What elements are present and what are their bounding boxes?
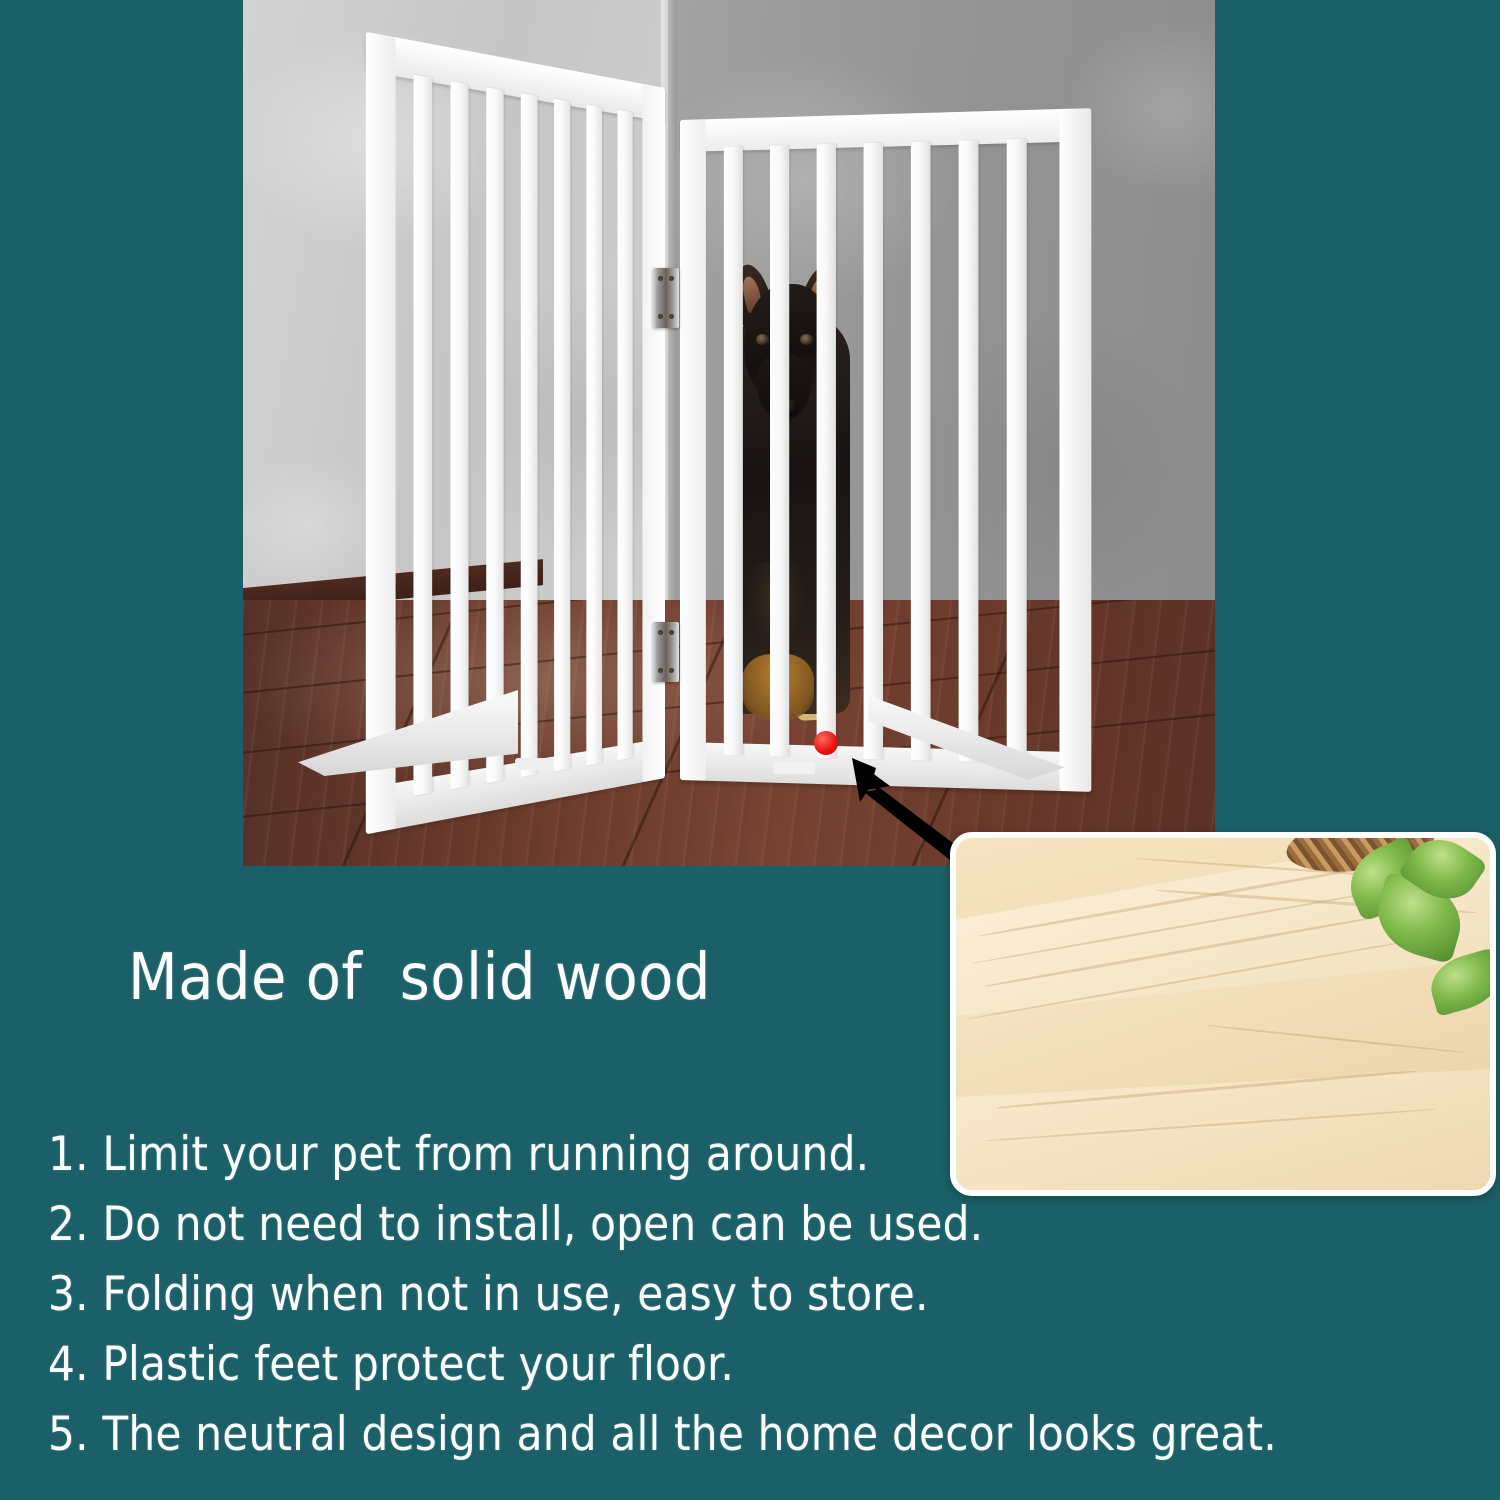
hinge-screw xyxy=(658,276,663,281)
gate-slat xyxy=(1007,139,1027,763)
feature-list: 1. Limit your pet from running around. 2… xyxy=(48,1120,1468,1470)
plastic-foot-pad xyxy=(515,758,553,770)
gate-slat xyxy=(959,140,979,762)
support-foot-left xyxy=(298,690,518,776)
hinge-screw xyxy=(669,668,674,673)
gate-hinge-bottom xyxy=(653,622,679,682)
hinge-screw xyxy=(658,314,663,319)
gate-slat xyxy=(413,75,432,796)
feature-item-3: 3. Folding when not in use, easy to stor… xyxy=(48,1260,1468,1330)
gate-slat xyxy=(911,141,931,760)
hinge-screw xyxy=(669,276,674,281)
headline: Made of solid wood xyxy=(128,942,711,1014)
hinge-screw xyxy=(669,314,674,319)
gate-slat xyxy=(554,99,570,771)
hinge-screw xyxy=(669,630,674,635)
hinge-screw xyxy=(658,668,663,673)
gate-slat xyxy=(450,81,468,789)
foot-wedge xyxy=(298,690,518,776)
product-photo xyxy=(243,0,1215,866)
gate-slat xyxy=(521,93,538,777)
hinge-screw xyxy=(658,630,663,635)
plastic-foot-pad xyxy=(773,762,815,774)
gate-hinge-top xyxy=(653,268,679,328)
product-infographic: Made of solid wood 1. Limit your pet fro… xyxy=(0,0,1500,1500)
panel-left-stile xyxy=(680,119,706,780)
feature-item-5: 5. The neutral design and all the home d… xyxy=(48,1400,1468,1470)
gate-slat xyxy=(770,145,789,757)
gate-slat xyxy=(724,146,743,755)
gate-slat xyxy=(618,110,633,760)
feature-item-2: 2. Do not need to install, open can be u… xyxy=(48,1190,1468,1260)
gate-slat xyxy=(486,87,503,783)
feature-item-1: 1. Limit your pet from running around. xyxy=(48,1120,1468,1190)
feature-item-4: 4. Plastic feet protect your floor. xyxy=(48,1330,1468,1400)
gate-slat xyxy=(864,143,884,760)
gate-slat xyxy=(817,144,836,758)
gate-slat xyxy=(586,104,602,765)
